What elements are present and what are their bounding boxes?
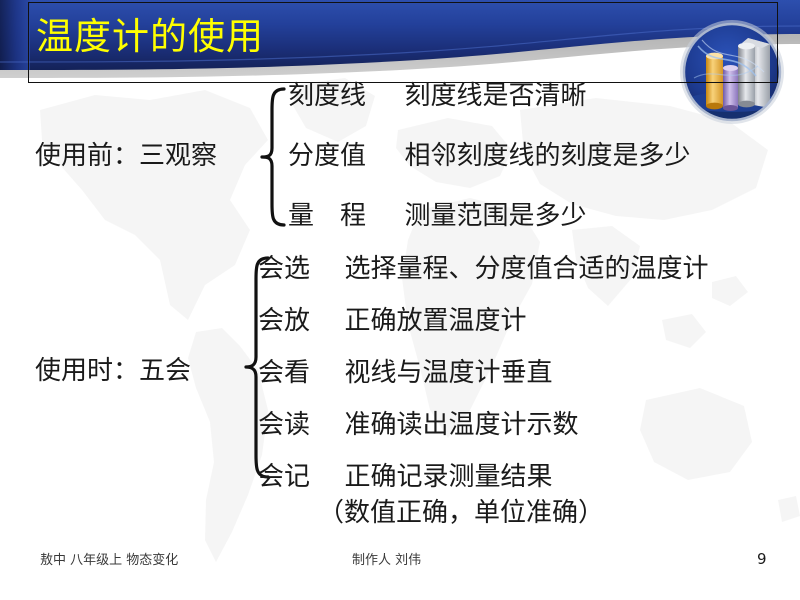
footer-left-text: 敖中 八年级上 物态变化 xyxy=(40,552,178,569)
list-item: 会读 准确读出温度计示数 xyxy=(258,409,579,441)
page-title: 温度计的使用 xyxy=(36,14,264,60)
item-value: 刻度线是否清晰 xyxy=(405,80,587,112)
list-item: 会选 选择量程、分度值合适的温度计 xyxy=(258,253,709,285)
item-value: 测量范围是多少 xyxy=(405,200,587,232)
item-key: 会看 xyxy=(258,357,310,389)
section-during-use-continuation: （数值正确，单位准确） xyxy=(318,497,604,529)
slide: 温度计的使用 使用前：三观察 刻度线 刻度线是否清晰 分度值 相邻刻度线的刻度是… xyxy=(0,0,800,600)
item-value: 正确记录测量结果 xyxy=(345,461,553,493)
section-before-use-lead: 使用前：三观察 xyxy=(35,140,217,172)
brace-before-use xyxy=(256,86,292,228)
item-value: 准确读出温度计示数 xyxy=(345,409,579,441)
item-key: 会放 xyxy=(258,305,310,337)
list-item: 刻度线 刻度线是否清晰 xyxy=(288,80,587,112)
item-key: 会记 xyxy=(258,461,310,493)
list-item: 量 程 测量范围是多少 xyxy=(288,200,587,232)
item-value: 相邻刻度线的刻度是多少 xyxy=(405,140,691,172)
item-key: 会选 xyxy=(258,253,310,285)
section-during-use-lead: 使用时：五会 xyxy=(35,355,191,387)
page-number: 9 xyxy=(757,550,767,568)
list-item: 会看 视线与温度计垂直 xyxy=(258,357,553,389)
item-value: 选择量程、分度值合适的温度计 xyxy=(345,253,709,285)
list-item: 分度值 相邻刻度线的刻度是多少 xyxy=(288,140,691,172)
footer-middle-text: 制作人 刘伟 xyxy=(352,552,421,569)
item-key: 量 程 xyxy=(288,200,366,232)
header-decorative-graphic xyxy=(676,16,788,128)
item-key: 会读 xyxy=(258,409,310,441)
item-value: 视线与温度计垂直 xyxy=(345,357,553,389)
item-value: 正确放置温度计 xyxy=(345,305,527,337)
list-item: 会放 正确放置温度计 xyxy=(258,305,527,337)
list-item: 会记 正确记录测量结果 xyxy=(258,461,553,493)
item-key: 分度值 xyxy=(288,140,366,172)
item-key: 刻度线 xyxy=(288,80,366,112)
